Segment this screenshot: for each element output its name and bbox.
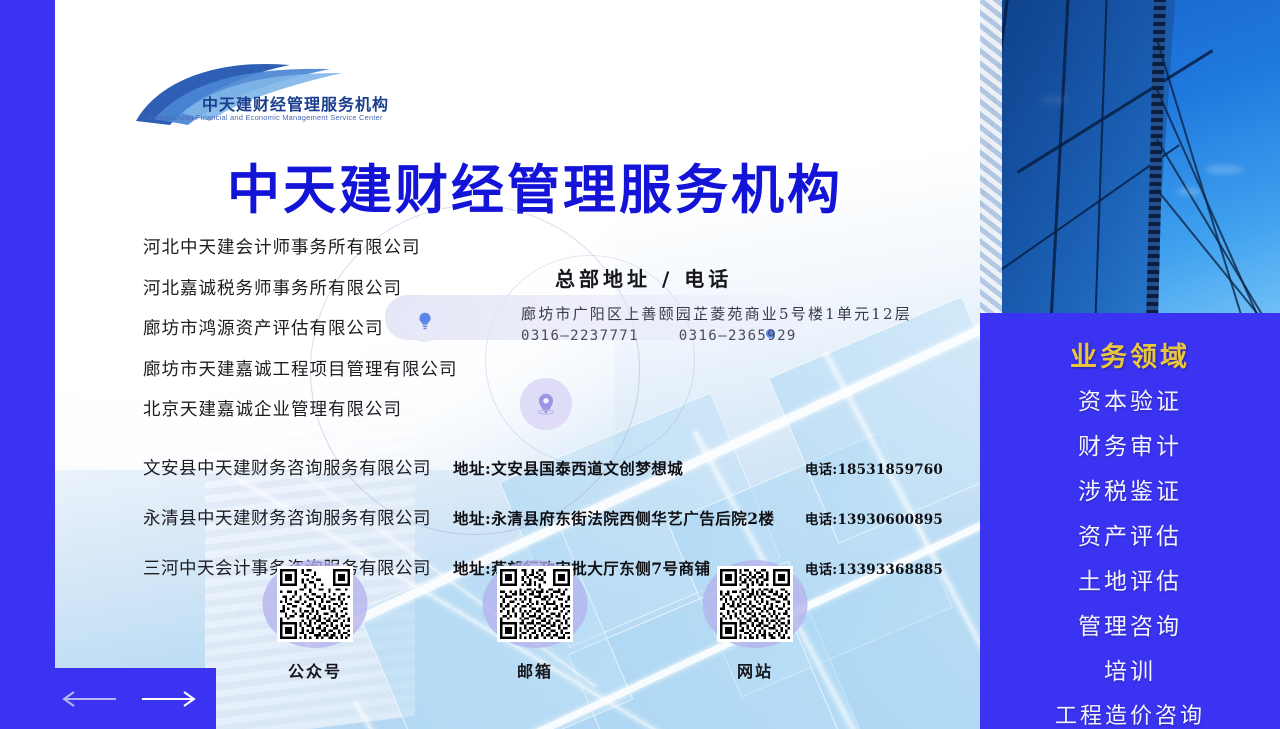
- branch-row: 文安县中天建财务咨询服务有限公司 地址:文安县国泰西道文创梦想城 电话:1853…: [143, 455, 943, 480]
- qr-code-icon: [497, 566, 573, 642]
- frame-left-bar: [0, 0, 55, 729]
- branch-address: 地址:文安县国泰西道文创梦想城: [453, 457, 683, 479]
- headquarters-phone-1: 0316—2237771: [521, 328, 639, 344]
- qr-code-item[interactable]: 网站: [670, 560, 840, 682]
- logo-company-name: 中天建财经管理服务机构: [202, 91, 389, 115]
- branch-name: 文安县中天建财务咨询服务有限公司: [143, 455, 453, 480]
- company-logo: 中天建财经管理服务机构 Zhongtianjian Financial and …: [130, 55, 440, 135]
- company-list-item: 廊坊市鸿源资产评估有限公司: [143, 321, 563, 339]
- service-item[interactable]: 管理咨询: [1078, 616, 1182, 639]
- navigation-arrows: [60, 684, 210, 714]
- headquarters-title: 总部地址 / 电话: [555, 263, 732, 292]
- building-left-panel: [980, 0, 1002, 314]
- qr-code-icon: [277, 566, 353, 642]
- services-panel-title: 业务领域: [1070, 335, 1190, 374]
- headquarters-phone-2: 0316—2365929: [679, 328, 797, 344]
- arrow-right-icon[interactable]: [140, 689, 198, 709]
- service-item[interactable]: 资本验证: [1078, 391, 1182, 414]
- qr-code-icon: [717, 566, 793, 642]
- branch-name: 永清县中天建财务咨询服务有限公司: [143, 505, 453, 530]
- service-item[interactable]: 工程造价咨询: [1055, 706, 1205, 728]
- headquarters-address: 廊坊市广阳区上善颐园芷菱苑商业5号楼1单元12层: [521, 303, 912, 324]
- arrow-left-icon[interactable]: [60, 689, 118, 709]
- cloud-wisp: [1176, 188, 1202, 195]
- services-panel: 业务领域 资本验证 财务审计 涉税鉴证 资产评估 土地评估 管理咨询 培训 工程…: [980, 313, 1280, 729]
- page-title: 中天建财经管理服务机构: [195, 148, 875, 224]
- building-cable: [1156, 189, 1280, 314]
- logo-company-subtitle: Zhongtianjian Financial and Economic Man…: [146, 113, 383, 122]
- branch-phone: 电话:13930600895: [791, 508, 943, 528]
- company-list-item: 北京天建嘉诚企业管理有限公司: [143, 402, 563, 420]
- building-photo: [980, 0, 1280, 314]
- slide-content-card: 中天建财经管理服务机构 Zhongtianjian Financial and …: [55, 0, 980, 729]
- qr-code-group: 公众号: [230, 560, 850, 710]
- branch-row: 永清县中天建财务咨询服务有限公司 地址:永清县府东街法院西侧华艺广告后院2楼 电…: [143, 505, 943, 530]
- qr-code-item[interactable]: 公众号: [230, 560, 400, 682]
- headquarters-phones: 0316—2237771 0316—2365929: [521, 328, 827, 344]
- qr-code-label: 网站: [670, 658, 840, 682]
- company-list: 河北中天建会计师事务所有限公司 河北嘉诚税务师事务所有限公司 廊坊市鸿源资产评估…: [143, 240, 563, 443]
- service-item[interactable]: 涉税鉴证: [1078, 481, 1182, 504]
- company-list-item: 河北中天建会计师事务所有限公司: [143, 240, 563, 258]
- qr-code-label: 邮箱: [450, 658, 620, 682]
- qr-code-label: 公众号: [230, 658, 400, 682]
- service-item[interactable]: 培训: [1104, 661, 1156, 684]
- company-list-item: 廊坊市天建嘉诚工程项目管理有限公司: [143, 362, 563, 380]
- building-cable: [1156, 89, 1280, 314]
- company-list-item: 河北嘉诚税务师事务所有限公司: [143, 281, 563, 299]
- qr-code-item[interactable]: 邮箱: [450, 560, 620, 682]
- service-item[interactable]: 资产评估: [1078, 526, 1182, 549]
- branch-phone: 电话:18531859760: [791, 458, 943, 478]
- cloud-wisp: [1205, 165, 1243, 174]
- branch-address: 地址:永清县府东街法院西侧华艺广告后院2楼: [453, 507, 775, 529]
- service-item[interactable]: 财务审计: [1078, 436, 1182, 459]
- cloud-wisp: [1040, 95, 1070, 105]
- service-item[interactable]: 土地评估: [1078, 571, 1182, 594]
